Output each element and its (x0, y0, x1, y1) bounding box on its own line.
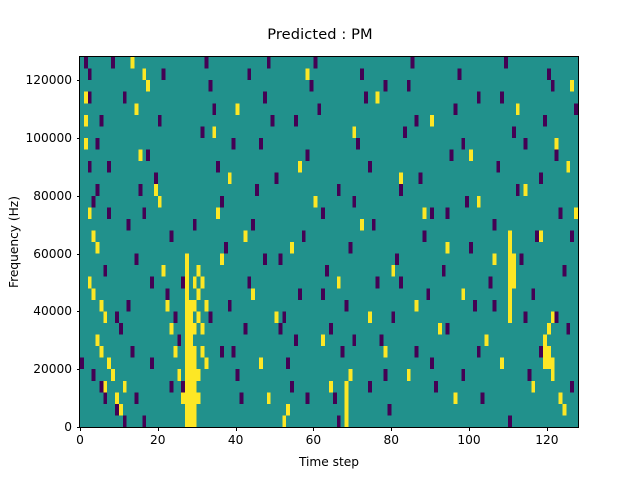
heatmap-plot-area[interactable] (79, 56, 579, 428)
y-tick-label: 20000 (0, 362, 72, 376)
x-tick-mark (547, 427, 548, 431)
y-tick-mark (77, 311, 81, 312)
x-tick-mark (236, 427, 237, 431)
x-axis-label: Time step (80, 455, 578, 469)
matplotlib-figure: Predicted : PM Frequency (Hz) Time step … (0, 0, 640, 480)
page-title: Predicted : PM (0, 26, 640, 43)
y-tick-mark (77, 80, 81, 81)
y-tick-label: 100000 (0, 131, 72, 145)
x-tick-label: 60 (306, 433, 322, 447)
y-tick-mark (77, 196, 81, 197)
x-tick-mark (391, 427, 392, 431)
x-tick-label: 120 (535, 433, 558, 447)
x-tick-mark (80, 427, 81, 431)
y-tick-label: 60000 (0, 247, 72, 261)
x-tick-label: 80 (383, 433, 399, 447)
y-tick-label: 40000 (0, 304, 72, 318)
y-tick-mark (77, 369, 81, 370)
heatmap-canvas[interactable] (80, 57, 578, 427)
x-tick-mark (469, 427, 470, 431)
x-tick-mark (158, 427, 159, 431)
x-tick-label: 100 (457, 433, 480, 447)
y-tick-label: 0 (0, 420, 72, 434)
x-tick-label: 0 (76, 433, 84, 447)
y-tick-mark (77, 138, 81, 139)
x-tick-mark (313, 427, 314, 431)
x-tick-label: 40 (228, 433, 244, 447)
y-tick-mark (77, 254, 81, 255)
x-tick-label: 20 (150, 433, 166, 447)
y-tick-label: 120000 (0, 73, 72, 87)
y-axis-label: Frequency (Hz) (7, 196, 21, 288)
y-tick-label: 80000 (0, 189, 72, 203)
